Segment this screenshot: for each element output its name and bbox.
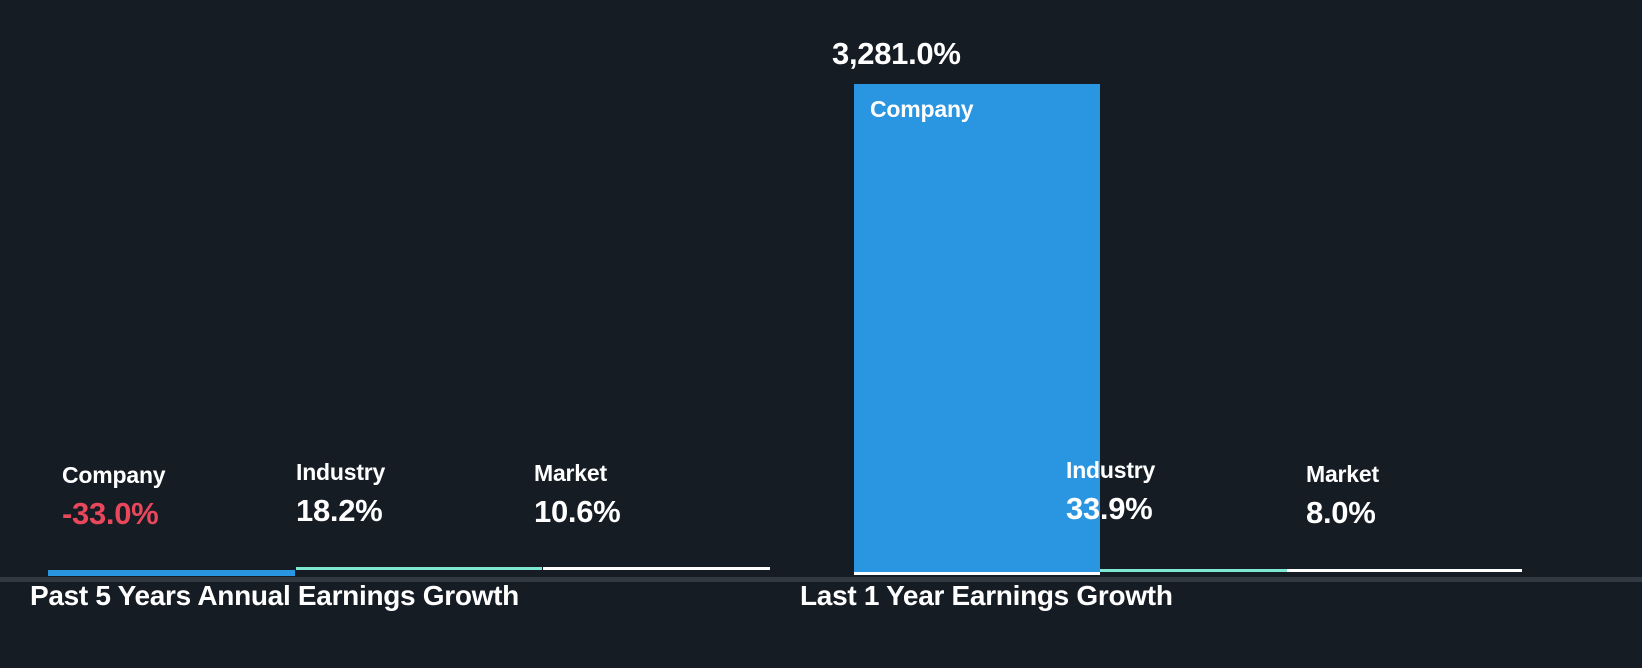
panel-last-1-year: Company 3,281.0% Industry 33.9% Market 8…: [800, 0, 1642, 668]
group-value-market-left: 10.6%: [534, 492, 620, 532]
group-industry-right: Industry 33.9%: [1066, 457, 1155, 529]
baseline-segment-company-left: [48, 570, 295, 576]
group-company-left: Company -33.0%: [62, 462, 165, 534]
bar-value-company-right: 3,281.0%: [832, 36, 961, 72]
group-market-right: Market 8.0%: [1306, 461, 1379, 533]
baseline-segment-company-right: [854, 572, 1100, 575]
group-value-company-left: -33.0%: [62, 494, 165, 534]
baseline-segment-market-left: [543, 567, 770, 570]
group-industry-left: Industry 18.2%: [296, 459, 385, 531]
earnings-growth-chart: Company -33.0% Industry 18.2% Market 10.…: [0, 0, 1642, 668]
baseline-segment-industry-left: [296, 567, 542, 570]
group-market-left: Market 10.6%: [534, 460, 620, 532]
baseline-segment-industry-right: [1100, 569, 1287, 572]
panel-past-5-years: Company -33.0% Industry 18.2% Market 10.…: [0, 0, 800, 668]
bar-company-right: Company: [854, 84, 1100, 572]
group-value-market-right: 8.0%: [1306, 493, 1379, 533]
group-label-market-left: Market: [534, 460, 620, 486]
panel-caption-past-5-years: Past 5 Years Annual Earnings Growth: [30, 580, 519, 612]
group-value-industry-right: 33.9%: [1066, 489, 1155, 529]
group-label-company-left: Company: [62, 462, 165, 488]
group-label-industry-right: Industry: [1066, 457, 1155, 483]
group-label-market-right: Market: [1306, 461, 1379, 487]
bar-label-company-right: Company: [870, 96, 973, 123]
group-label-industry-left: Industry: [296, 459, 385, 485]
group-value-industry-left: 18.2%: [296, 491, 385, 531]
baseline-segment-market-right: [1287, 569, 1522, 572]
panel-caption-last-1-year: Last 1 Year Earnings Growth: [800, 580, 1173, 612]
